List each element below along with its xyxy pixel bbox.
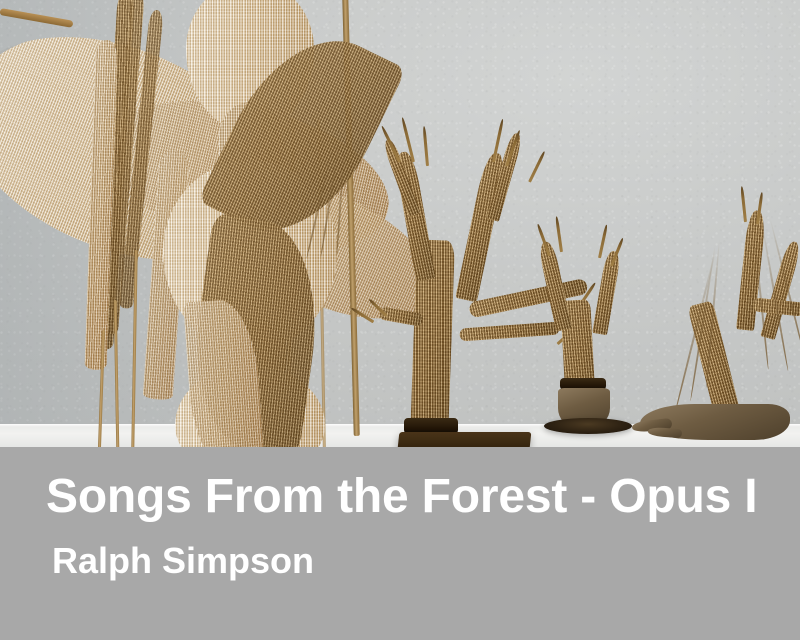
caption-overlay: Songs From the Forest - Opus I Ralph Sim… (0, 447, 800, 640)
artwork-artist: Ralph Simpson (52, 543, 770, 579)
artwork-title: Songs From the Forest - Opus I (46, 473, 770, 521)
artwork-card: Songs From the Forest - Opus I Ralph Sim… (0, 0, 800, 640)
caption-content: Songs From the Forest - Opus I Ralph Sim… (46, 473, 770, 579)
tree-small-metal-disc (544, 418, 632, 434)
